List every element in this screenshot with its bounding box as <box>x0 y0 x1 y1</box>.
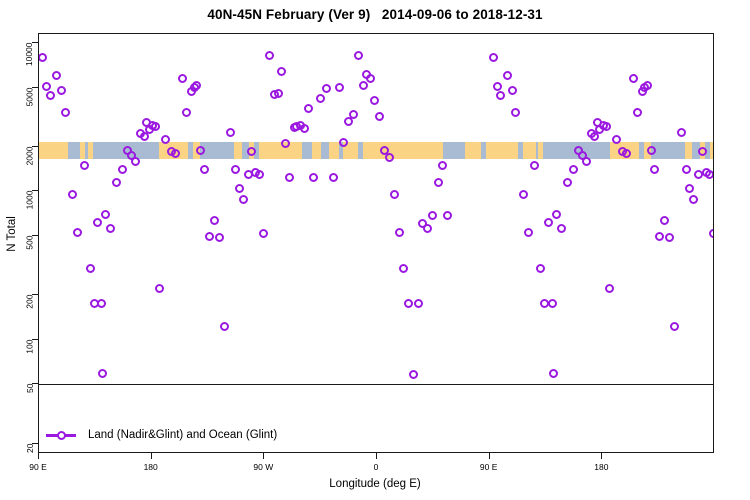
data-point-marker <box>370 96 379 105</box>
plot-area <box>38 33 714 453</box>
data-point-marker <box>239 195 248 204</box>
data-point-marker <box>544 218 553 227</box>
x-tick <box>151 453 152 459</box>
data-point-marker <box>438 161 447 170</box>
reference-line <box>39 384 713 385</box>
data-point-marker <box>61 108 70 117</box>
mask-land-segment <box>490 142 519 159</box>
data-point-marker <box>259 229 268 238</box>
data-point-marker <box>605 284 614 293</box>
y-tick-label: 20 <box>0 443 32 444</box>
data-point-marker <box>277 67 286 76</box>
data-point-marker <box>220 322 229 331</box>
data-point-marker <box>359 81 368 90</box>
data-point-marker <box>235 184 244 193</box>
data-point-marker <box>97 299 106 308</box>
data-point-marker <box>205 232 214 241</box>
data-point-marker <box>112 178 121 187</box>
x-tick-label: 90 W <box>253 462 273 472</box>
data-point-marker <box>682 165 691 174</box>
data-point-marker <box>404 299 413 308</box>
mask-land-segment <box>88 142 93 159</box>
data-point-marker <box>42 82 51 91</box>
data-point-marker <box>73 228 82 237</box>
data-point-marker <box>548 299 557 308</box>
data-point-marker <box>265 51 274 60</box>
data-point-marker <box>633 108 642 117</box>
data-point-marker <box>366 74 375 83</box>
mask-land-segment <box>363 142 443 159</box>
y-tick-label: 10000 <box>0 42 32 43</box>
data-point-marker <box>399 264 408 273</box>
data-point-marker <box>685 184 694 193</box>
legend-item-label: Land (Nadir&Glint) and Ocean (Glint) <box>88 429 277 441</box>
data-point-marker <box>86 264 95 273</box>
data-point-marker <box>536 264 545 273</box>
data-point-marker <box>612 135 621 144</box>
chart-figure: 40N-45N February (Ver 9) 2014-09-06 to 2… <box>0 0 750 500</box>
data-point-marker <box>151 122 160 131</box>
data-point-marker <box>226 128 235 137</box>
data-point-marker <box>647 146 656 155</box>
data-point-marker <box>395 228 404 237</box>
data-point-marker <box>200 165 209 174</box>
data-point-marker <box>106 224 115 233</box>
data-point-marker <box>602 122 611 131</box>
x-tick-label: 180 <box>144 462 158 472</box>
data-point-marker <box>557 224 566 233</box>
data-point-marker <box>80 161 89 170</box>
data-point-marker <box>428 211 437 220</box>
x-tick <box>376 453 377 459</box>
data-point-marker <box>38 53 47 62</box>
data-point-marker <box>274 89 283 98</box>
y-axis-title-container: N Total <box>2 0 16 500</box>
data-point-marker <box>155 284 164 293</box>
data-point-marker <box>650 165 659 174</box>
x-tick-label: 90 E <box>29 462 47 472</box>
data-point-marker <box>503 71 512 80</box>
mask-land-segment <box>710 142 714 159</box>
x-tick <box>489 453 490 459</box>
data-point-marker <box>385 153 394 162</box>
data-point-marker <box>210 216 219 225</box>
mask-land-segment <box>538 142 543 159</box>
mask-land-segment <box>329 142 339 159</box>
data-point-marker <box>68 190 77 199</box>
data-point-marker <box>98 369 107 378</box>
data-point-marker <box>409 370 418 379</box>
data-point-marker <box>496 91 505 100</box>
data-point-marker <box>192 81 201 90</box>
data-point-marker <box>443 211 452 220</box>
data-point-marker <box>101 210 110 219</box>
legend: Land (Nadir&Glint) and Ocean (Glint) <box>46 427 277 443</box>
y-tick-label: 5000 <box>0 87 32 88</box>
data-point-marker <box>52 71 61 80</box>
x-tick-label: 0 <box>374 462 379 472</box>
data-point-marker <box>354 51 363 60</box>
x-tick-label: 180 <box>594 462 608 472</box>
mask-land-segment <box>531 142 536 159</box>
data-point-marker <box>118 165 127 174</box>
data-point-marker <box>660 216 669 225</box>
data-point-marker <box>304 104 313 113</box>
mask-land-segment <box>465 142 481 159</box>
data-point-marker <box>677 128 686 137</box>
mask-land-segment <box>39 142 68 159</box>
data-point-marker <box>182 108 191 117</box>
data-point-marker <box>335 83 344 92</box>
data-point-marker <box>519 190 528 199</box>
data-point-marker <box>552 210 561 219</box>
data-point-marker <box>569 165 578 174</box>
data-point-marker <box>57 86 66 95</box>
data-point-marker <box>171 149 180 158</box>
data-point-marker <box>375 112 384 121</box>
data-point-marker <box>255 170 264 179</box>
data-point-marker <box>309 173 318 182</box>
data-point-marker <box>582 157 591 166</box>
data-point-marker <box>300 124 309 133</box>
legend-marker-icon <box>57 431 66 440</box>
data-point-marker <box>665 233 674 242</box>
data-point-marker <box>524 228 533 237</box>
data-point-marker <box>285 173 294 182</box>
data-point-marker <box>178 74 187 83</box>
y-axis-title: N Total <box>6 204 18 264</box>
x-tick <box>38 453 39 459</box>
data-point-marker <box>434 178 443 187</box>
data-point-marker <box>339 138 348 147</box>
x-axis-title: Longitude (deg E) <box>0 478 750 490</box>
y-tick-label: 1000 <box>0 190 32 191</box>
data-point-marker <box>322 84 331 93</box>
y-tick-label: 2000 <box>0 146 32 147</box>
data-point-marker <box>414 299 423 308</box>
data-point-marker <box>196 146 205 155</box>
data-point-marker <box>231 165 240 174</box>
x-tick <box>263 453 264 459</box>
x-tick-label: 90 E <box>480 462 498 472</box>
data-point-marker <box>423 224 432 233</box>
mask-land-segment <box>312 142 321 159</box>
data-point-marker <box>549 369 558 378</box>
data-point-marker <box>709 229 714 238</box>
y-tick-label: 200 <box>0 294 32 295</box>
x-tick <box>601 453 602 459</box>
data-point-marker <box>622 149 631 158</box>
data-point-marker <box>670 322 679 331</box>
chart-title: 40N-45N February (Ver 9) 2014-09-06 to 2… <box>0 7 750 22</box>
y-tick-label: 100 <box>0 339 32 340</box>
data-point-marker <box>655 232 664 241</box>
legend-line-swatch <box>46 434 76 437</box>
data-point-marker <box>93 218 102 227</box>
data-point-marker <box>493 82 502 91</box>
data-point-marker <box>705 170 714 179</box>
mask-land-segment <box>685 142 693 159</box>
data-point-marker <box>161 135 170 144</box>
mask-land-segment <box>523 142 531 159</box>
data-point-marker <box>316 94 325 103</box>
data-point-marker <box>689 195 698 204</box>
data-point-marker <box>131 157 140 166</box>
data-point-marker <box>329 173 338 182</box>
mask-land-segment <box>234 142 242 159</box>
data-point-marker <box>508 86 517 95</box>
data-point-marker <box>511 108 520 117</box>
data-point-marker <box>643 81 652 90</box>
data-point-marker <box>46 91 55 100</box>
data-point-marker <box>629 74 638 83</box>
data-point-marker <box>563 178 572 187</box>
data-point-marker <box>390 190 399 199</box>
data-point-marker <box>349 110 358 119</box>
data-point-marker <box>215 233 224 242</box>
data-point-marker <box>489 53 498 62</box>
data-point-marker <box>530 161 539 170</box>
y-tick-label: 50 <box>0 383 32 384</box>
y-tick-label: 500 <box>0 235 32 236</box>
mask-land-segment <box>80 142 85 159</box>
